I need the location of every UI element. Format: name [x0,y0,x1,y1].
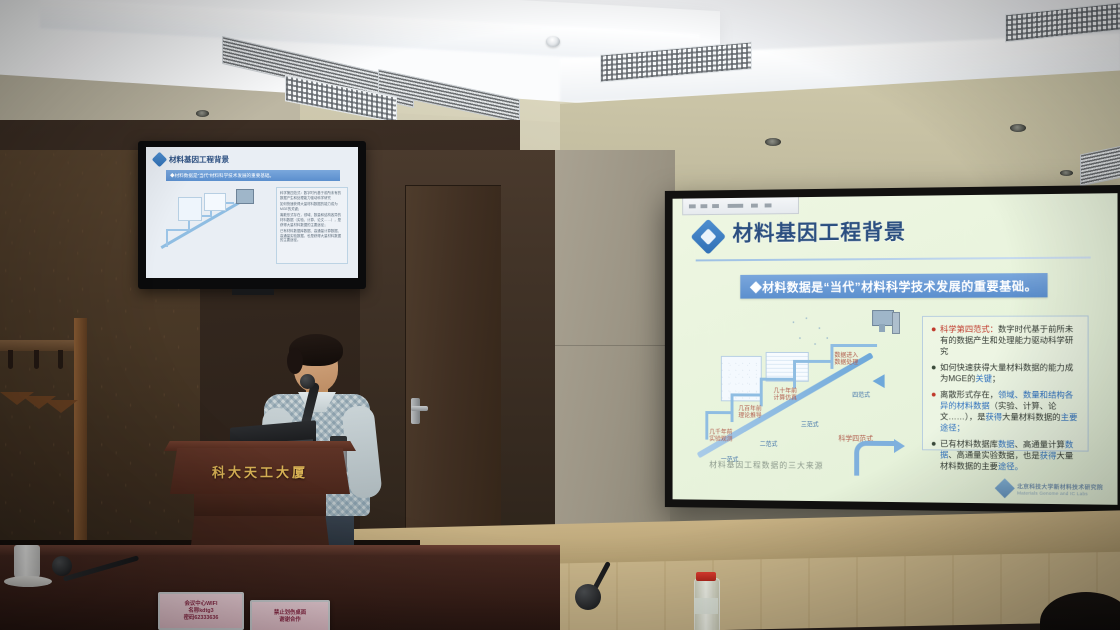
footer-logo-en: Materials Genome and IC Labs [1017,490,1103,496]
placard-line: 禁止划伤桌面 [274,610,306,617]
presenter-hair-side [287,348,303,374]
wall-display-screen: 材料基因工程背景 ◆材料数据是“当代”材料科学技术发展的重要基础。 科学第四范式… [146,147,358,278]
slide-banner: ◆材料数据是“当代”材料科学技术发展的重要基础。 [740,273,1047,299]
display-mount [232,289,274,295]
mini-bullet: 如何快速获得大量材料数据的能力成为MGE的关键； [280,202,344,211]
slide-banner-text: ◆材料数据是“当代”材料科学技术发展的重要基础。 [750,277,1037,295]
downlight-1 [765,138,781,146]
podium-neck [194,494,326,516]
footer-logo-icon [995,478,1015,498]
microphone-head-icon [52,556,72,576]
paradigm-label-4: 四范式 [852,390,870,399]
placard-line: 谢谢合作 [279,617,301,624]
saucer [4,576,52,587]
smoke-detector [546,36,560,47]
placard-line: 密码62333636 [184,615,219,622]
water-bottle-cap [696,572,716,581]
mini-banner: ◆材料数据是“当代”材料科学技术发展的重要基础。 [170,173,274,179]
mini-slide-title: 材料基因工程背景 [169,154,229,165]
lecture-hall-photo: 材料基因工程背景 ◆材料数据是“当代”材料科学技术发展的重要基础。 科学第四范式… [0,0,1120,630]
paradigm-label-2: 二范式 [760,439,778,448]
hanger-icon[interactable] [44,400,78,413]
coat-hook-icon[interactable] [8,350,13,369]
door-lever-icon[interactable] [411,406,428,411]
placard-line: 名称kdtg3 [188,608,213,615]
placard-notice: 禁止划伤桌面 谢谢合作 [250,600,330,630]
projection-screen[interactable]: 材料基因工程背景 ◆材料数据是“当代”材料科学技术发展的重要基础。 [665,185,1120,513]
wall-seam [555,345,675,346]
slide-footer-logo: 北京科技大学新材料技术研究院 Materials Genome and IC L… [998,481,1103,496]
slide-bullet-box: ● 科学第四范式：数字时代基于前所未有的数据产生和处理能力驱动科学研究 ● 如何… [922,315,1089,451]
wall-beige-panel [555,150,675,550]
computer-icon [868,310,898,336]
footer-logo-cn: 北京科技大学新材料技术研究院 [1017,482,1103,491]
curved-arrow-icon [854,441,895,476]
diagram-caption: 材料基因工程数据的三大来源 [709,459,823,471]
institute-logo-icon [690,219,726,255]
bullet-item: ● 科学第四范式：数字时代基于前所未有的数据产生和处理能力驱动科学研究 [931,324,1081,358]
mini-bullet: 离散形式存在，领域、数量和结构各异的材料数据（实验、计算、论文……），是获得大量… [280,213,344,227]
microphone-head-icon [300,374,315,389]
stair-label-3b: 计算仿真 [773,393,797,402]
downlight-2 [1010,124,1026,132]
coat-hook-icon[interactable] [58,350,63,369]
stair-label-2b: 理论推导 [738,410,761,419]
bullet-item: ● 已有材料数据库数据、高通量计算数据、高通量实验数据，也是获得大量材料数据的主… [931,438,1081,473]
water-bottle-label [694,598,718,614]
coat-rack-post [74,318,87,546]
projection-surface: 材料基因工程背景 ◆材料数据是“当代”材料科学技术发展的重要基础。 [673,193,1118,505]
stair-label-4b: 数据处理 [834,357,858,366]
mini-logo-icon [152,152,168,168]
slide-title: 材料基因工程背景 [733,216,906,247]
stair-label-1b: 实验观测 [709,434,732,443]
podium-sign-text: 科大天工大厦 [170,462,350,481]
bullet-item: ● 离散形式存在，领域、数量和结构各异的材料数据（实验、计算、论文……），是获得… [931,389,1081,434]
diagram-dots-cloud [789,314,832,354]
microphone-head-icon [575,584,601,610]
mini-bullet: 已有材料数据库数据、高通量计算数据、高通量实验数据，也是获得大量材料数据的主要途… [280,229,344,243]
door[interactable] [405,185,501,551]
mini-bullet: 科学第四范式：数字时代基于前所未有的数据产生和处理能力驱动科学研究 [280,191,344,200]
downlight-5 [1060,170,1073,176]
downlight-7 [196,110,209,117]
placard-wifi: 会议中心WIFI 名称kdtg3 密码62333636 [158,592,244,630]
door-handle-icon[interactable] [411,398,420,424]
paper-cup [14,545,40,579]
slide-title-row: 材料基因工程背景 [696,214,1091,262]
placard-line: 会议中心WIFI [185,601,218,608]
powerpoint-toolbar-strip[interactable] [682,197,799,215]
wall-mounted-display[interactable]: 材料基因工程背景 ◆材料数据是“当代”材料科学技术发展的重要基础。 科学第四范式… [138,141,366,289]
coat-hook-icon[interactable] [34,350,39,369]
front-table-top [0,545,560,555]
paradigm-label-3: 三范式 [801,419,819,428]
bullet-item: ● 如何快速获得大量材料数据的能力成为MGE的关键； [931,362,1081,385]
